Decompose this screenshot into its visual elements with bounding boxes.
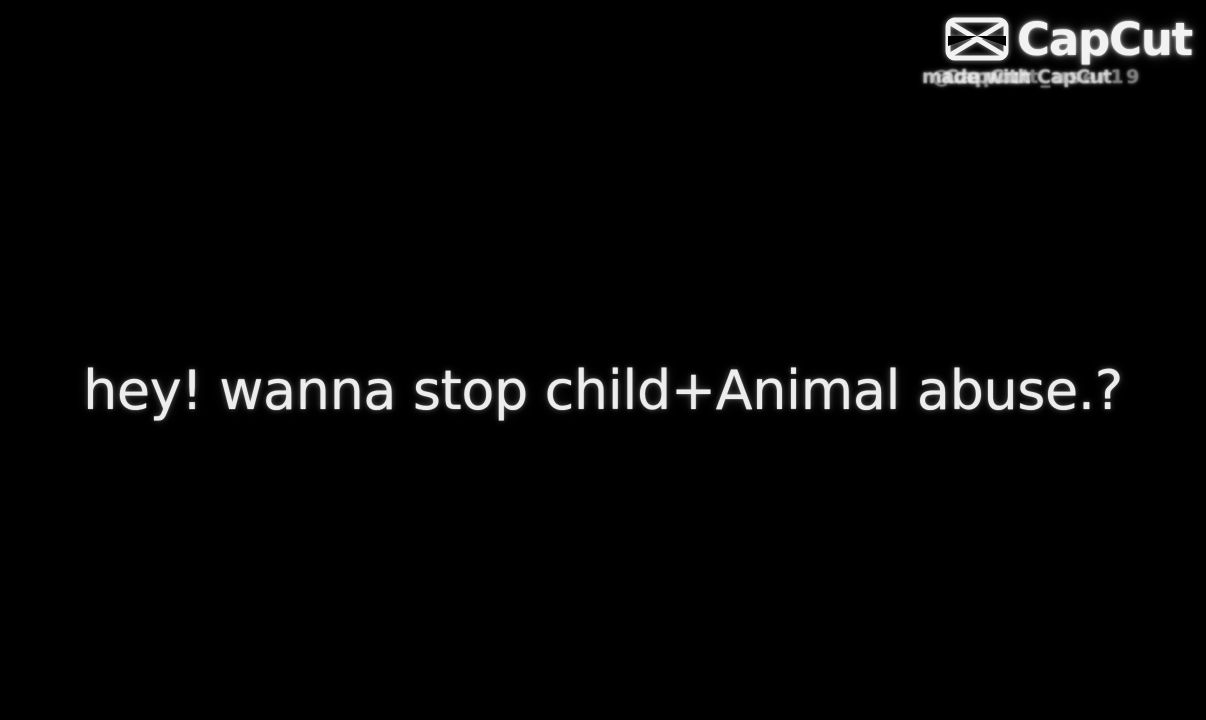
caption-container: hey! wanna stop child+Animal abuse.? [0,348,1206,434]
capcut-logo-row: CapCut [944,14,1192,64]
capcut-hourglass-icon [944,16,1010,62]
capcut-user-tag-layer-3: @capcut_user19 [932,65,1142,89]
capcut-watermark: CapCut made with CapCut CapCut @capcut_u… [932,14,1192,100]
capcut-wordmark: CapCut [1017,17,1192,62]
caption-text: hey! wanna stop child+Animal abuse.? [83,359,1123,423]
capcut-user-tag: made with CapCut CapCut @capcut_user19 [918,65,1206,89]
video-frame: CapCut made with CapCut CapCut @capcut_u… [0,0,1206,720]
